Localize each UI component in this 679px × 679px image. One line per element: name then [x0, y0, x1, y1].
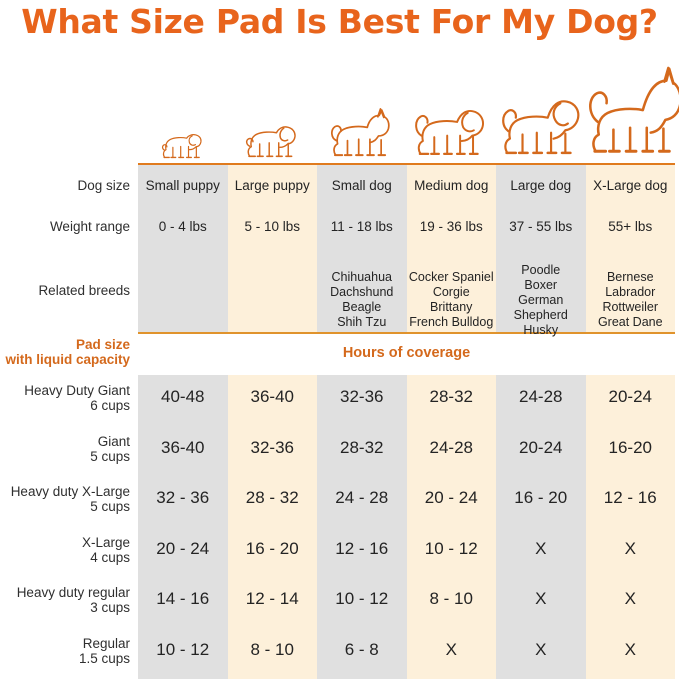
small-dog-icon	[317, 97, 407, 163]
cell-hours-value: X	[586, 591, 676, 607]
cell-hours-value: 20 - 24	[407, 490, 497, 506]
cell-weight-range: 55+ lbs	[586, 219, 676, 235]
row-label-related-breeds: Related breeds	[0, 283, 130, 298]
row-label-weight-range: Weight range	[0, 219, 130, 234]
pad-row-capacity: 4 cups	[0, 550, 130, 565]
cell-hours-value: 16 - 20	[496, 490, 586, 506]
cell-weight-range: 37 - 55 lbs	[496, 219, 586, 235]
row-label-dog-size: Dog size	[0, 178, 130, 193]
cell-hours-value: 20-24	[496, 440, 586, 456]
cell-hours-value: 28 - 32	[228, 490, 318, 506]
pad-row-name: X-Large	[0, 535, 130, 550]
cell-hours-value: 36-40	[228, 389, 318, 405]
cell-weight-range: 11 - 18 lbs	[317, 219, 407, 235]
cell-hours-value: 32 - 36	[138, 490, 228, 506]
cell-related-breeds: BerneseLabradorRottweilerGreat Dane	[586, 270, 676, 330]
large-dog-icon	[496, 79, 586, 163]
cell-hours-value: 12 - 16	[317, 541, 407, 557]
page-title: What Size Pad Is Best For My Dog?	[0, 2, 679, 41]
pad-row-name: Giant	[0, 434, 130, 449]
cell-hours-value: 6 - 8	[317, 642, 407, 658]
cell-related-breeds: Cocker SpanielCorgieBrittanyFrench Bulld…	[407, 270, 497, 330]
cell-hours-value: 20 - 24	[138, 541, 228, 557]
cell-hours-value: 10 - 12	[407, 541, 497, 557]
cell-hours-value: 12 - 16	[586, 490, 676, 506]
cell-hours-value: 10 - 12	[138, 642, 228, 658]
cell-hours-value: X	[496, 541, 586, 557]
cell-dog-size: Large dog	[496, 178, 586, 194]
cell-related-breeds: PoodleBoxerGermanShepherdHusky	[496, 263, 586, 338]
row-label-pad-size-line2: with liquid capacity	[0, 352, 130, 367]
cell-hours-value: 24-28	[496, 389, 586, 405]
cell-hours-value: 32-36	[228, 440, 318, 456]
cell-hours-value: 14 - 16	[138, 591, 228, 607]
cell-dog-size: Small dog	[317, 178, 407, 194]
pad-row-capacity: 3 cups	[0, 600, 130, 615]
cell-dog-size: Large puppy	[228, 178, 318, 194]
medium-dog-icon	[407, 87, 497, 163]
baseline-rule	[138, 163, 675, 165]
cell-hours-value: 12 - 14	[228, 591, 318, 607]
cell-hours-value: 40-48	[138, 389, 228, 405]
large-puppy-icon	[228, 107, 318, 163]
cell-hours-value: 24-28	[407, 440, 497, 456]
cell-hours-value: 28-32	[407, 389, 497, 405]
cell-dog-size: X-Large dog	[586, 178, 676, 194]
pad-row-name: Regular	[0, 636, 130, 651]
cell-hours-value: 8 - 10	[407, 591, 497, 607]
cell-hours-value: X	[496, 642, 586, 658]
cell-hours-value: 10 - 12	[317, 591, 407, 607]
cell-weight-range: 0 - 4 lbs	[138, 219, 228, 235]
cell-dog-size: Small puppy	[138, 178, 228, 194]
cell-weight-range: 5 - 10 lbs	[228, 219, 318, 235]
infographic-root: What Size Pad Is Best For My Dog? Dog si…	[0, 0, 679, 679]
cell-hours-value: 8 - 10	[228, 642, 318, 658]
cell-related-breeds: ChihuahuaDachshundBeagleShih Tzu	[317, 270, 407, 330]
pad-row-name: Heavy duty X-Large	[0, 484, 130, 499]
cell-hours-value: 24 - 28	[317, 490, 407, 506]
cell-hours-value: 36-40	[138, 440, 228, 456]
section-divider-rule	[138, 332, 675, 334]
pad-row-capacity: 6 cups	[0, 398, 130, 413]
pad-row-name: Heavy duty regular	[0, 585, 130, 600]
hours-of-coverage-header: Hours of coverage	[138, 345, 675, 361]
cell-dog-size: Medium dog	[407, 178, 497, 194]
pad-row-name: Heavy Duty Giant	[0, 383, 130, 398]
cell-hours-value: X	[586, 642, 676, 658]
cell-hours-value: 28-32	[317, 440, 407, 456]
cell-hours-value: X	[586, 541, 676, 557]
small-puppy-icon	[138, 117, 228, 163]
pad-row-capacity: 5 cups	[0, 499, 130, 514]
pad-row-capacity: 5 cups	[0, 449, 130, 464]
cell-hours-value: 16 - 20	[228, 541, 318, 557]
x-large-dog-icon	[586, 65, 676, 163]
pad-row-capacity: 1.5 cups	[0, 651, 130, 666]
cell-hours-value: 20-24	[586, 389, 676, 405]
cell-hours-value: X	[496, 591, 586, 607]
cell-hours-value: 32-36	[317, 389, 407, 405]
cell-hours-value: 16-20	[586, 440, 676, 456]
cell-weight-range: 19 - 36 lbs	[407, 219, 497, 235]
dog-silhouette-row	[138, 78, 675, 163]
cell-hours-value: X	[407, 642, 497, 658]
row-label-pad-size-line1: Pad size	[0, 337, 130, 352]
